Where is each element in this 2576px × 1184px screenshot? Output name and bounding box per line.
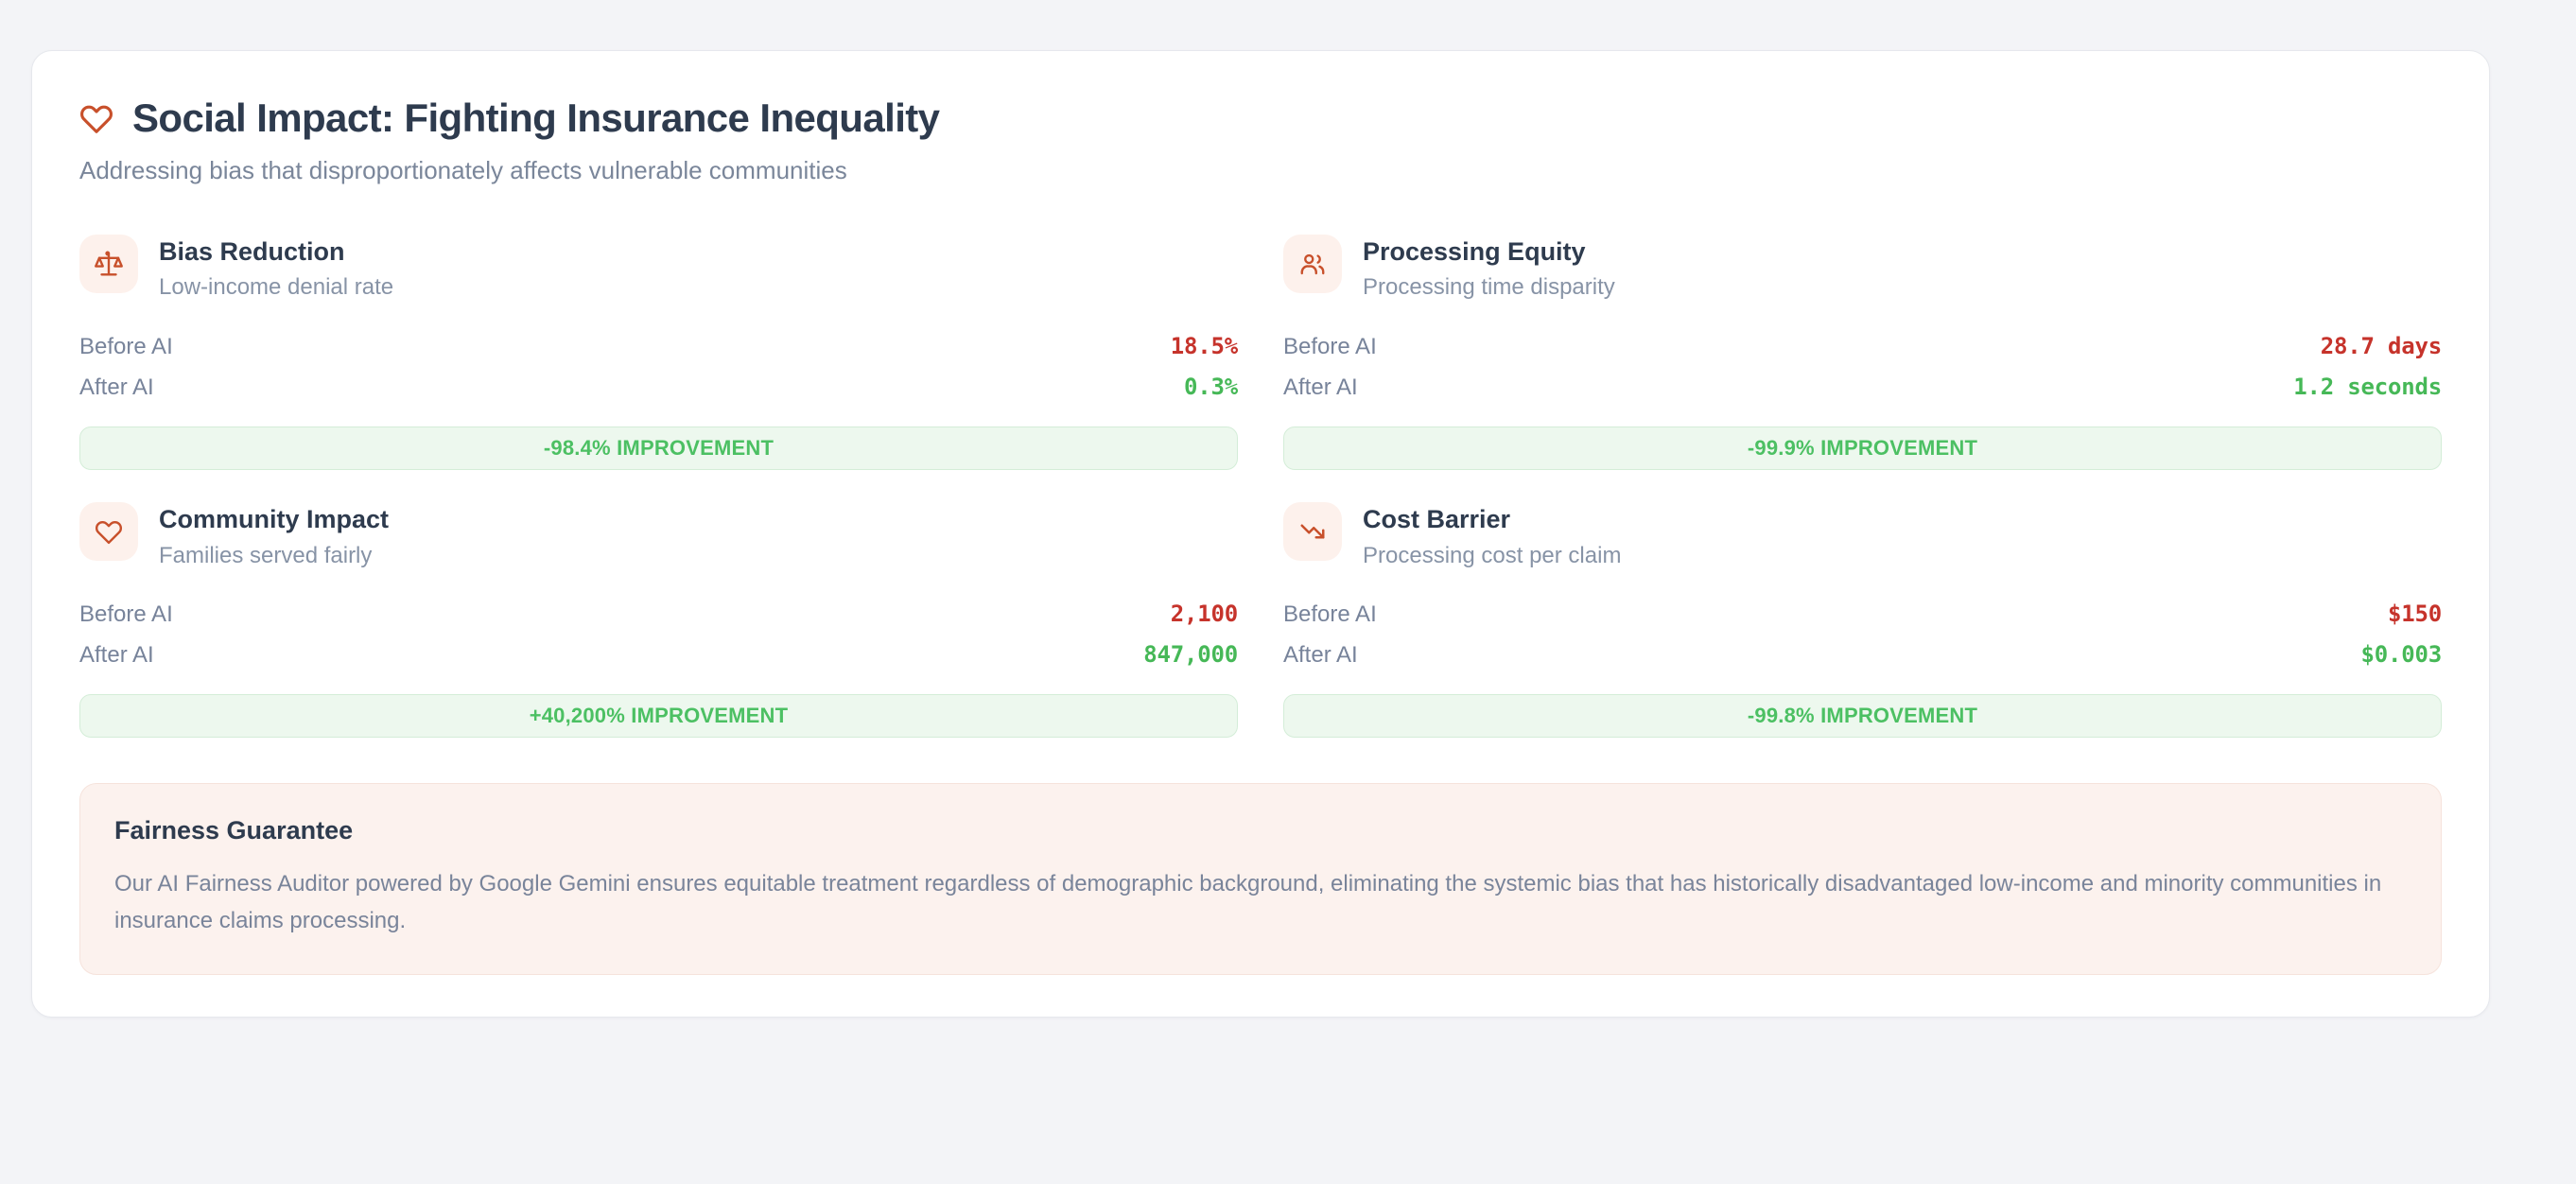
before-value: 28.7 days: [2321, 333, 2442, 359]
heart-icon: [79, 101, 113, 135]
metric-row-after: After AI 1.2 seconds: [1283, 367, 2442, 408]
metric-card-cost-barrier: Cost Barrier Processing cost per claim B…: [1283, 498, 2442, 738]
before-label: Before AI: [1283, 334, 1377, 360]
before-label: Before AI: [79, 334, 173, 360]
metric-description: Processing time disparity: [1363, 274, 1615, 302]
metric-headtext: Cost Barrier Processing cost per claim: [1363, 502, 1621, 569]
improvement-badge: -98.4% IMPROVEMENT: [79, 427, 1238, 470]
improvement-badge: +40,200% IMPROVEMENT: [79, 694, 1238, 738]
after-value: 847,000: [1143, 641, 1238, 668]
metric-row-before: Before AI $150: [1283, 594, 2442, 635]
metric-card-community-impact: Community Impact Families served fairly …: [79, 498, 1238, 738]
metric-name: Community Impact: [159, 504, 389, 534]
fairness-guarantee-title: Fairness Guarantee: [114, 816, 2407, 845]
metric-row-before: Before AI 2,100: [79, 594, 1238, 635]
metric-name: Cost Barrier: [1363, 504, 1621, 534]
fairness-guarantee-panel: Fairness Guarantee Our AI Fairness Audit…: [79, 783, 2442, 975]
metric-header: Bias Reduction Low-income denial rate: [79, 235, 1238, 302]
after-value: $0.003: [2361, 641, 2443, 668]
metric-row-after: After AI $0.003: [1283, 635, 2442, 675]
after-label: After AI: [1283, 642, 1358, 669]
users-icon: [1283, 235, 1342, 293]
metric-headtext: Community Impact Families served fairly: [159, 502, 389, 569]
metric-card-bias-reduction: Bias Reduction Low-income denial rate Be…: [79, 231, 1238, 470]
trending-down-icon: [1283, 502, 1342, 561]
fairness-guarantee-body: Our AI Fairness Auditor powered by Googl…: [114, 866, 2407, 940]
after-label: After AI: [79, 374, 154, 401]
improvement-badge: -99.9% IMPROVEMENT: [1283, 427, 2442, 470]
improvement-badge: -99.8% IMPROVEMENT: [1283, 694, 2442, 738]
panel-header: Social Impact: Fighting Insurance Inequa…: [79, 96, 2442, 187]
before-value: $150: [2388, 601, 2442, 627]
metric-header: Processing Equity Processing time dispar…: [1283, 235, 2442, 302]
metric-row-before: Before AI 28.7 days: [1283, 326, 2442, 367]
before-label: Before AI: [1283, 601, 1377, 628]
metric-header: Cost Barrier Processing cost per claim: [1283, 502, 2442, 569]
metric-row-after: After AI 847,000: [79, 635, 1238, 675]
metric-description: Families served fairly: [159, 543, 389, 570]
page-title: Social Impact: Fighting Insurance Inequa…: [132, 96, 939, 140]
after-value: 1.2 seconds: [2293, 374, 2442, 400]
after-label: After AI: [79, 642, 154, 669]
metric-name: Bias Reduction: [159, 236, 393, 267]
metrics-grid: Bias Reduction Low-income denial rate Be…: [79, 231, 2442, 738]
before-label: Before AI: [79, 601, 173, 628]
metric-description: Low-income denial rate: [159, 274, 393, 302]
metric-description: Processing cost per claim: [1363, 543, 1621, 570]
page-root: Social Impact: Fighting Insurance Inequa…: [0, 0, 2576, 1184]
before-value: 2,100: [1171, 601, 1238, 627]
scales-balance-icon: [79, 235, 138, 293]
page-subtitle: Addressing bias that disproportionately …: [79, 155, 2442, 187]
heart-icon: [79, 502, 138, 561]
after-value: 0.3%: [1184, 374, 1238, 400]
social-impact-panel: Social Impact: Fighting Insurance Inequa…: [31, 50, 2490, 1018]
metric-name: Processing Equity: [1363, 236, 1615, 267]
metric-card-processing-equity: Processing Equity Processing time dispar…: [1283, 231, 2442, 470]
before-value: 18.5%: [1171, 333, 1238, 359]
after-label: After AI: [1283, 374, 1358, 401]
metric-headtext: Bias Reduction Low-income denial rate: [159, 235, 393, 302]
metric-headtext: Processing Equity Processing time dispar…: [1363, 235, 1615, 302]
metric-header: Community Impact Families served fairly: [79, 502, 1238, 569]
metric-row-after: After AI 0.3%: [79, 367, 1238, 408]
metric-row-before: Before AI 18.5%: [79, 326, 1238, 367]
title-row: Social Impact: Fighting Insurance Inequa…: [79, 96, 2442, 140]
